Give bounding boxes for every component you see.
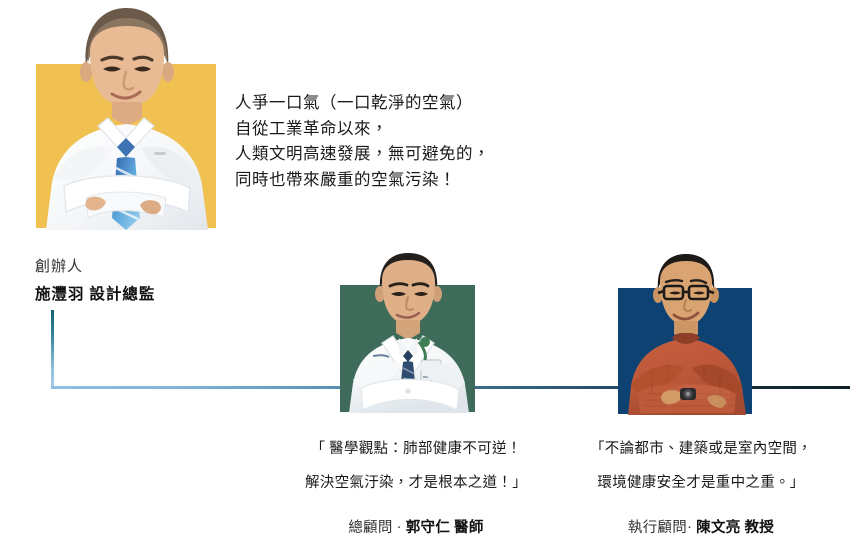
advisor2-portrait [612,250,760,415]
advisor1-title-prefix: 總顧問 · [348,520,401,536]
founder-quote-line-4: 同時也帶來嚴重的空氣污染！ [235,167,565,193]
advisor2-name: 陳文亮 教授 [696,520,774,536]
advisor1-name: 郭守仁 醫師 [406,520,484,536]
founder-quote-line-3: 人類文明高速發展，無可避免的， [235,141,565,167]
founder-quote: 人爭一口氣（一口乾淨的空氣） 自從工業革命以來， 人類文明高速發展，無可避免的，… [235,90,565,192]
founder-role-label: 創辦人 [35,255,83,276]
advisor2-quote-block: 「不論都市、建築或是室內空間， 環境健康安全才是重中之重。」 執行顧問· 陳文亮… [556,432,846,537]
founder-quote-line-1: 人爭一口氣（一口乾淨的空氣） [235,90,565,116]
infographic-canvas: 人爭一口氣（一口乾淨的空氣） 自從工業革命以來， 人類文明高速發展，無可避免的，… [0,0,850,550]
advisor2-quote-line-2: 環境健康安全才是重中之重。」 [556,466,846,500]
advisor2-quote-line-1: 「不論都市、建築或是室內空間， [556,432,846,466]
advisor1-portrait [333,250,483,413]
advisor1-quote-block: 「 醫學觀點：肺部健康不可逆！ 解決空氣汙染，才是根本之道！」 總顧問 · 郭守… [281,432,551,537]
advisor1-attribution: 總顧問 · 郭守仁 醫師 [281,516,551,537]
timeline-vertical-connector [51,310,54,389]
advisor2-attribution: 執行顧問· 陳文亮 教授 [556,516,846,537]
advisor2-title-prefix: 執行顧問· [628,520,692,536]
advisor1-quote-line-1: 「 醫學觀點：肺部健康不可逆！ [281,432,551,466]
founder-name-title: 施灃羽 設計總監 [35,282,155,304]
advisor1-quote-line-2: 解決空氣汙染，才是根本之道！」 [281,466,551,500]
founder-quote-line-2: 自從工業革命以來， [235,116,565,142]
founder-portrait [30,6,222,230]
